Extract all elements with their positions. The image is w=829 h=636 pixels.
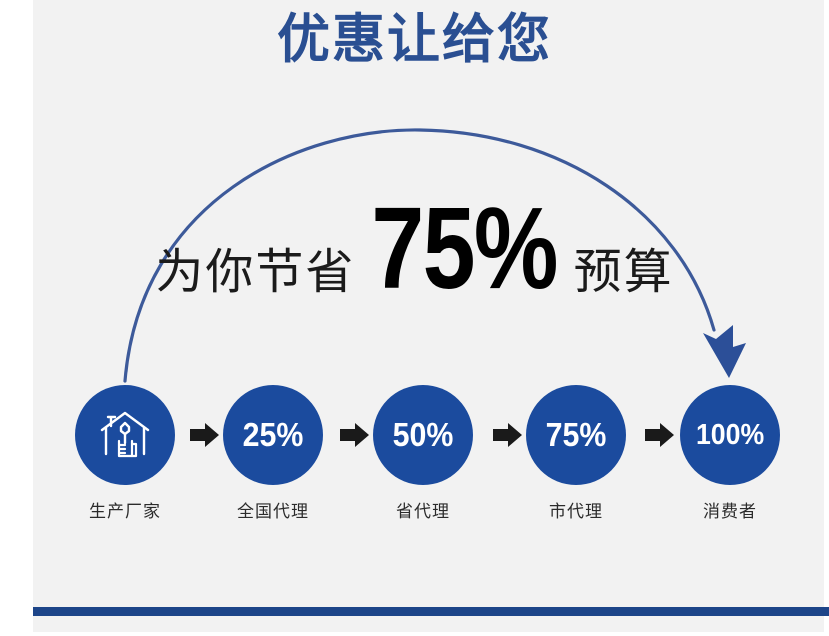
chain-node-circle: 100% bbox=[680, 385, 780, 485]
chain-node-city-agent[interactable]: 75% 市代理 bbox=[522, 385, 630, 522]
arrow-right-icon bbox=[645, 421, 675, 449]
savings-percent: 75% bbox=[372, 196, 557, 300]
chain-node-province-agent[interactable]: 50% 省代理 bbox=[369, 385, 477, 522]
chain-node-value: 50% bbox=[393, 416, 454, 454]
chain-node-circle: 50% bbox=[373, 385, 473, 485]
chain-node-circle: 25% bbox=[223, 385, 323, 485]
chain-node-value: 75% bbox=[546, 416, 607, 454]
chain-node-label: 全国代理 bbox=[219, 497, 327, 522]
chain-node-circle: 75% bbox=[526, 385, 626, 485]
chain-node-circle bbox=[75, 385, 175, 485]
arrow-right-icon bbox=[493, 421, 523, 449]
chain-node-value: 25% bbox=[243, 416, 304, 454]
chain-node-label: 省代理 bbox=[369, 497, 477, 522]
bottom-rule bbox=[33, 607, 829, 616]
infographic-root: 优惠让给您 为你节省75%预算 bbox=[0, 0, 829, 636]
savings-prefix: 为你节省 bbox=[155, 221, 355, 325]
distribution-chain: 生产厂家 25% 全国代理 50% 省代理 75% bbox=[0, 385, 829, 535]
savings-statement: 为你节省75%预算 bbox=[0, 196, 829, 326]
chain-node-label: 消费者 bbox=[676, 497, 784, 522]
arrow-right-icon bbox=[340, 421, 370, 449]
page-title: 优惠让给您 bbox=[0, 6, 829, 74]
factory-wrench-icon bbox=[94, 404, 156, 466]
savings-suffix: 预算 bbox=[574, 221, 674, 325]
chain-node-label: 市代理 bbox=[522, 497, 630, 522]
arrow-right-icon bbox=[190, 421, 220, 449]
chain-node-national-agent[interactable]: 25% 全国代理 bbox=[219, 385, 327, 522]
chain-node-value: 100% bbox=[696, 419, 764, 452]
chain-node-consumer[interactable]: 100% 消费者 bbox=[676, 385, 784, 522]
chain-node-label: 生产厂家 bbox=[71, 497, 179, 522]
chain-node-manufacturer[interactable]: 生产厂家 bbox=[71, 385, 179, 522]
